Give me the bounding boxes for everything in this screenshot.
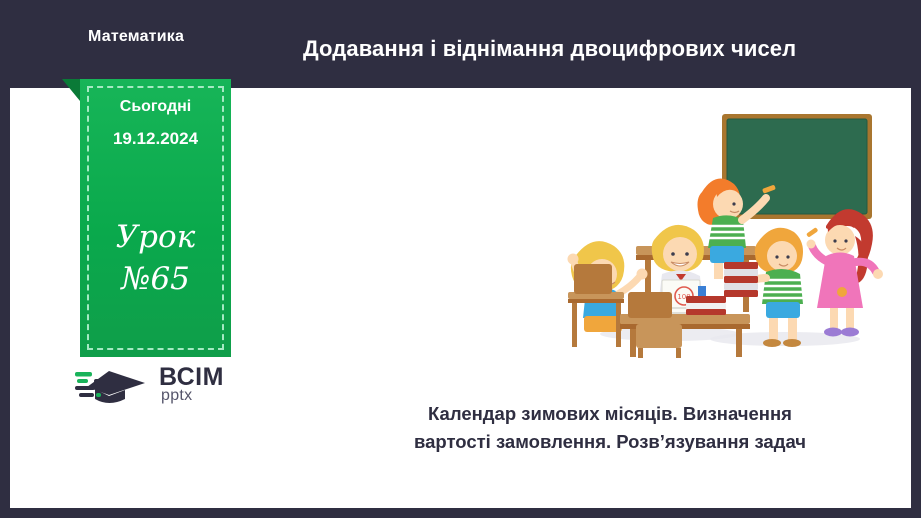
- card-fold-corner: [62, 79, 80, 101]
- caption-line-2: вартості замовлення. Розв’язування задач: [300, 428, 920, 456]
- subject-label: Математика: [88, 28, 184, 46]
- logo-suffix: pptx: [161, 387, 192, 405]
- card-lesson-word: Урок: [80, 219, 231, 255]
- caption-line-1: Календар зимових місяців. Визначення: [300, 400, 920, 428]
- card-date-value: 19.12.2024: [80, 129, 231, 149]
- page-title: Додавання і віднімання двоцифрових чисел: [303, 36, 903, 62]
- graduation-cap-icon: [75, 363, 155, 409]
- lesson-date-card: Сьогодні 19.12.2024 Урок №65: [80, 79, 231, 357]
- vsim-pptx-logo[interactable]: ВСІМ pptx: [75, 363, 265, 413]
- classroom-illustration: 100: [550, 96, 911, 358]
- chalkboard-shape: [722, 114, 872, 219]
- desk-books: [686, 296, 726, 315]
- slide-root: Математика Додавання і віднімання двоциф…: [0, 0, 921, 518]
- book-stack: [724, 262, 758, 297]
- card-dashed-border: [87, 86, 224, 350]
- lesson-topic-caption: Календар зимових місяців. Визначення вар…: [300, 400, 920, 456]
- card-today-label: Сьогодні: [80, 95, 231, 118]
- card-lesson-number: №65: [80, 261, 231, 297]
